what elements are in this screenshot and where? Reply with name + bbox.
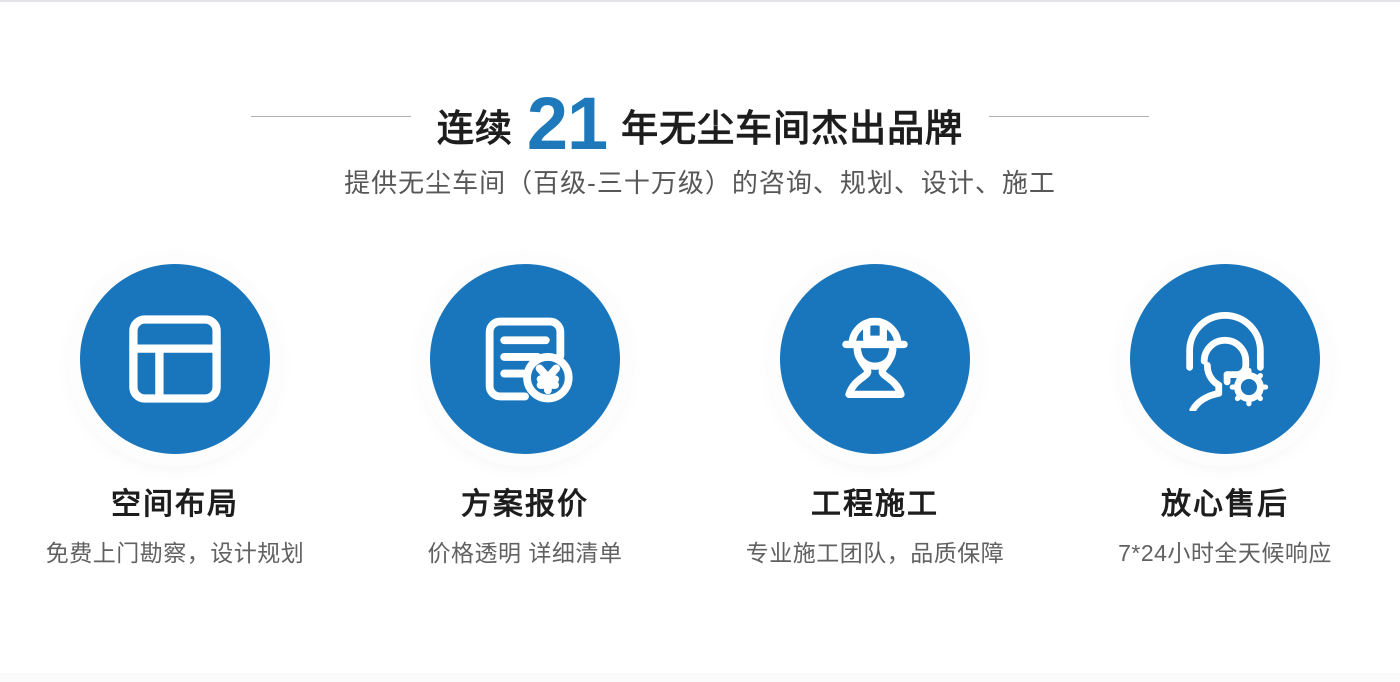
feature-title: 方案报价 [461, 490, 589, 520]
feature-icon-badge [780, 264, 970, 454]
headline: 连续 21 年无尘车间杰出品牌 [437, 79, 963, 153]
headline-years-number: 21 [527, 87, 607, 161]
feature-title: 工程施工 [811, 490, 939, 520]
headset-support-gear-icon [1173, 307, 1277, 411]
promo-banner: 连续 21 年无尘车间杰出品牌 提供无尘车间（百级-三十万级）的咨询、规划、设计… [0, 0, 1400, 682]
feature-item-after-sales[interactable]: 放心售后 7*24小时全天候响应 [1055, 264, 1395, 565]
feature-list: 空间布局 免费上门勘察，设计规划 [0, 264, 1400, 565]
headline-rule-right [989, 116, 1149, 117]
banner-header: 连续 21 年无尘车间杰出品牌 提供无尘车间（百级-三十万级）的咨询、规划、设计… [0, 80, 1400, 199]
feature-icon-badge [430, 264, 620, 454]
headline-suffix: 年无尘车间杰出品牌 [621, 110, 963, 147]
feature-icon-badge [80, 264, 270, 454]
feature-description: 专业施工团队，品质保障 [746, 542, 1005, 565]
headline-prefix: 连续 [437, 110, 513, 147]
feature-description: 免费上门勘察，设计规划 [46, 542, 305, 565]
feature-icon-badge [1130, 264, 1320, 454]
feature-item-construction[interactable]: 工程施工 专业施工团队，品质保障 [705, 264, 1045, 565]
feature-description: 7*24小时全天候响应 [1118, 542, 1332, 565]
layout-grid-icon [123, 307, 227, 411]
feature-title: 放心售后 [1161, 490, 1289, 520]
headline-rule-left [251, 116, 411, 117]
quotation-document-yuan-icon [473, 307, 577, 411]
feature-item-space-layout[interactable]: 空间布局 免费上门勘察，设计规划 [5, 264, 345, 565]
bottom-edge-band [0, 673, 1400, 682]
banner-subtitle: 提供无尘车间（百级-三十万级）的咨询、规划、设计、施工 [0, 168, 1400, 199]
feature-title: 空间布局 [111, 490, 239, 520]
feature-description: 价格透明 详细清单 [428, 542, 623, 565]
feature-item-quotation[interactable]: 方案报价 价格透明 详细清单 [355, 264, 695, 565]
headline-row: 连续 21 年无尘车间杰出品牌 [0, 80, 1400, 152]
construction-worker-helmet-icon [823, 307, 927, 411]
